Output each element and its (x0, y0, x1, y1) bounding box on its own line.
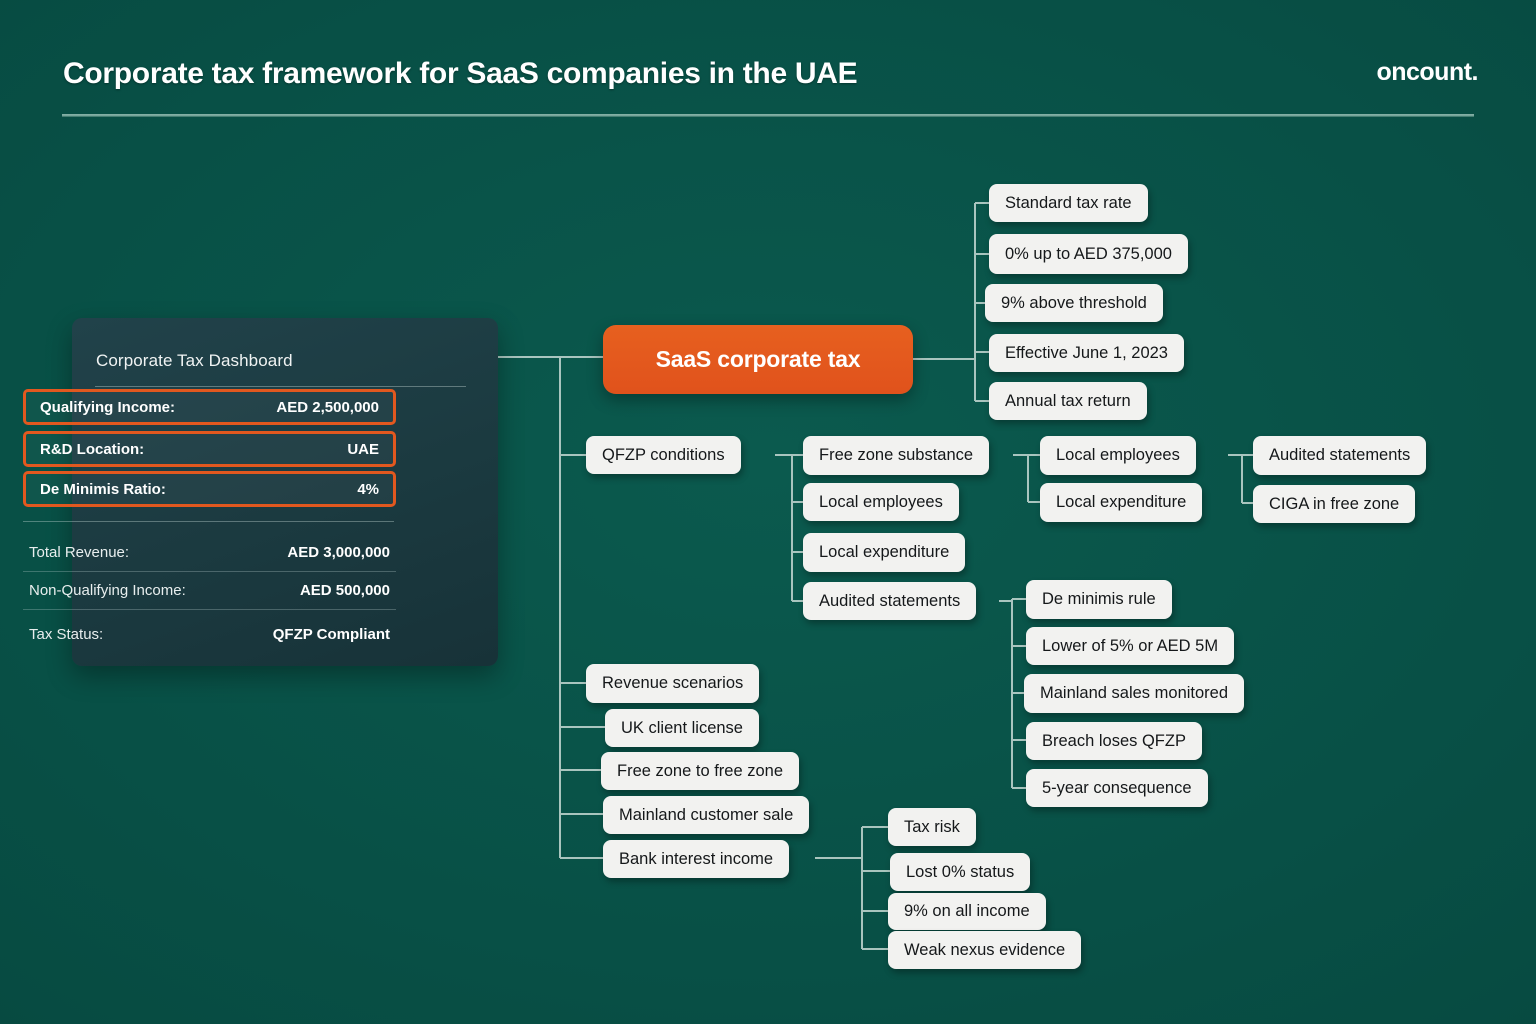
stat-value: AED 500,000 (300, 582, 390, 599)
node-5-year-consequence[interactable]: 5-year consequence (1026, 769, 1208, 807)
node-annual-tax-return[interactable]: Annual tax return (989, 382, 1147, 420)
node-standard-tax-rate[interactable]: Standard tax rate (989, 184, 1148, 222)
mindmap-canvas: Corporate tax framework for SaaS compani… (0, 0, 1536, 1024)
node-mainland-sales-monitored[interactable]: Mainland sales monitored (1024, 674, 1244, 713)
node-revenue-scenarios[interactable]: Revenue scenarios (586, 664, 759, 703)
node-nine-percent-on-all-income[interactable]: 9% on all income (888, 893, 1046, 930)
kpi-label: R&D Location: (40, 441, 144, 458)
kpi-value: 4% (357, 481, 379, 498)
stat-row-non-qualifying-income: Non-Qualifying Income: AED 500,000 (23, 572, 396, 610)
node-lower-of-5-percent-or-aed-5m[interactable]: Lower of 5% or AED 5M (1026, 627, 1234, 665)
node-breach-loses-qfzp[interactable]: Breach loses QFZP (1026, 722, 1202, 760)
stat-value: QFZP Compliant (273, 626, 390, 643)
node-local-employees-level3[interactable]: Local employees (1040, 436, 1196, 475)
stat-value: AED 3,000,000 (287, 544, 390, 561)
kpi-label: De Minimis Ratio: (40, 481, 166, 498)
node-local-expenditure-level3[interactable]: Local expenditure (1040, 483, 1202, 522)
node-tax-risk[interactable]: Tax risk (888, 808, 976, 846)
node-lost-zero-percent-status[interactable]: Lost 0% status (890, 853, 1030, 891)
kpi-row-de-minimis-ratio: De Minimis Ratio: 4% (23, 471, 396, 507)
node-local-employees-level2[interactable]: Local employees (803, 483, 959, 521)
node-mainland-customer-sale[interactable]: Mainland customer sale (603, 796, 809, 834)
dashboard-section-divider (23, 521, 394, 522)
kpi-row-rd-location: R&D Location: UAE (23, 431, 396, 467)
stat-label: Non-Qualifying Income: (29, 582, 186, 599)
node-qfzp-conditions[interactable]: QFZP conditions (586, 436, 741, 474)
stat-label: Tax Status: (29, 626, 103, 643)
node-free-zone-substance[interactable]: Free zone substance (803, 436, 989, 475)
node-de-minimis-rule[interactable]: De minimis rule (1026, 580, 1172, 619)
stat-row-total-revenue: Total Revenue: AED 3,000,000 (23, 534, 396, 572)
stat-label: Total Revenue: (29, 544, 129, 561)
kpi-row-qualifying-income: Qualifying Income: AED 2,500,000 (23, 389, 396, 425)
node-audited-statements-level4[interactable]: Audited statements (1253, 436, 1426, 475)
node-weak-nexus-evidence[interactable]: Weak nexus evidence (888, 931, 1081, 969)
dashboard-title-divider (95, 386, 466, 387)
node-audited-statements-level2[interactable]: Audited statements (803, 582, 976, 620)
node-bank-interest-income[interactable]: Bank interest income (603, 840, 789, 878)
central-node-saas-corporate-tax[interactable]: SaaS corporate tax (603, 325, 913, 394)
node-effective-june-2023[interactable]: Effective June 1, 2023 (989, 334, 1184, 372)
kpi-value: UAE (347, 441, 379, 458)
dashboard-title: Corporate Tax Dashboard (96, 351, 293, 371)
stat-row-tax-status: Tax Status: QFZP Compliant (23, 615, 396, 653)
kpi-value: AED 2,500,000 (276, 399, 379, 416)
node-uk-client-license[interactable]: UK client license (605, 709, 759, 747)
node-nine-percent-above-threshold[interactable]: 9% above threshold (985, 284, 1163, 322)
kpi-label: Qualifying Income: (40, 399, 175, 416)
node-ciga-in-free-zone[interactable]: CIGA in free zone (1253, 485, 1415, 523)
node-free-zone-to-free-zone[interactable]: Free zone to free zone (601, 752, 799, 790)
node-zero-up-to-375000[interactable]: 0% up to AED 375,000 (989, 234, 1188, 274)
node-local-expenditure-level2[interactable]: Local expenditure (803, 533, 965, 572)
